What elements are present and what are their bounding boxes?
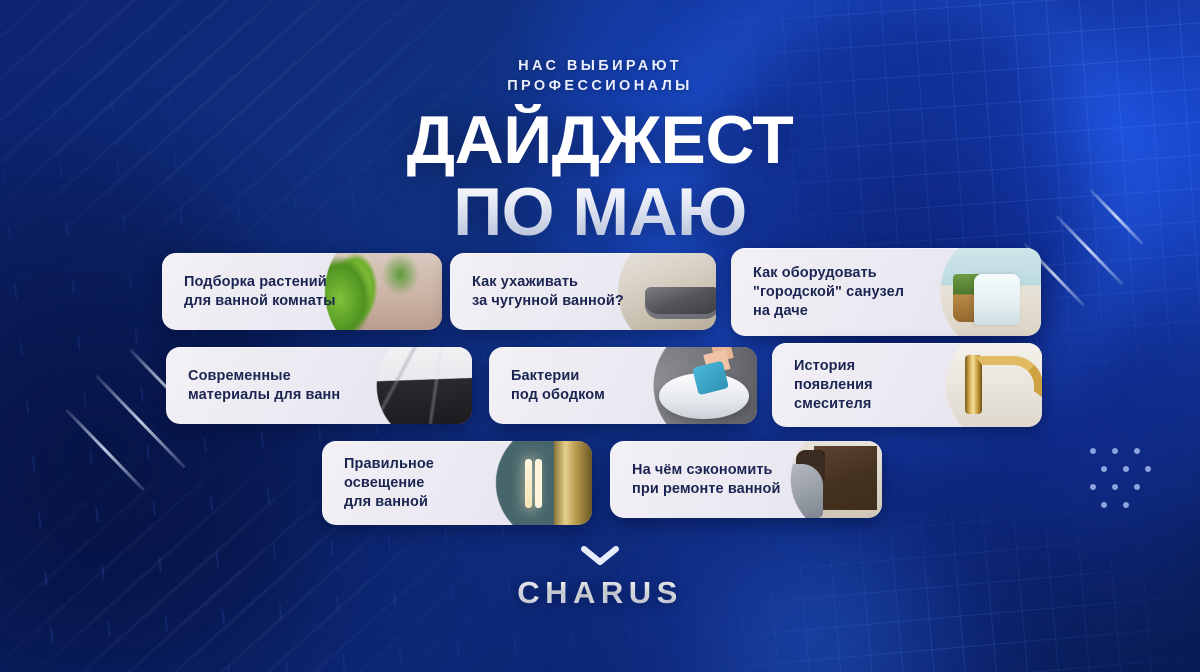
digest-card-save-on-repair[interactable]: На чём сэкономить при ремонте ванной <box>610 441 882 518</box>
card-title-line: Бактерии <box>511 367 605 386</box>
card-title-line: под ободком <box>511 386 605 405</box>
bathroom-lighting-photo <box>464 441 592 525</box>
card-title: История появления смесителя <box>772 357 873 414</box>
card-title-line: при ремонте ванной <box>632 480 781 499</box>
card-title-line: Как оборудовать <box>753 264 904 283</box>
card-title: Бактерии под ободком <box>489 367 605 405</box>
brand-logo: CHARUS <box>0 575 1200 611</box>
toilet-room-photo <box>907 248 1041 336</box>
gold-faucet-photo <box>914 343 1042 427</box>
digest-card-list: Подборка растений для ванной комнаты Как… <box>0 0 1200 672</box>
digest-card-plants[interactable]: Подборка растений для ванной комнаты <box>162 253 442 330</box>
card-title-line: Как ухаживать <box>472 273 624 292</box>
poster-content: НАС ВЫБИРАЮТ ПРОФЕССИОНАЛЫ ДАЙДЖЕСТ ПО М… <box>0 0 1200 672</box>
card-title-line: "городской" санузел <box>753 283 904 302</box>
card-title-line: для ванной <box>344 493 434 512</box>
card-title-line: появления <box>794 376 873 395</box>
card-title-line: Современные <box>188 367 340 386</box>
card-title: Правильное освещение для ванной <box>322 455 434 512</box>
digest-card-bacteria[interactable]: Бактерии под ободком <box>489 347 757 424</box>
card-title-line: Подборка растений <box>184 273 336 292</box>
scroll-down-indicator <box>0 546 1200 571</box>
digest-card-lighting[interactable]: Правильное освещение для ванной <box>322 441 592 525</box>
toilet-cleaning-photo <box>617 347 757 424</box>
card-title-line: На чём сэкономить <box>632 461 781 480</box>
card-title-line: История <box>794 357 873 376</box>
card-title-line: для ванной комнаты <box>184 292 336 311</box>
card-title-line: освещение <box>344 474 434 493</box>
digest-card-country-toilet[interactable]: Как оборудовать "городской" санузел на д… <box>731 248 1041 336</box>
card-title-line: материалы для ванн <box>188 386 340 405</box>
digest-card-cast-iron[interactable]: Как ухаживать за чугунной ванной? <box>450 253 716 330</box>
card-title: Как ухаживать за чугунной ванной? <box>450 273 624 311</box>
card-title-line: на даче <box>753 302 904 321</box>
digest-card-modern-materials[interactable]: Современные материалы для ванн <box>166 347 472 424</box>
card-title-line: Правильное <box>344 455 434 474</box>
card-title: Как оборудовать "городской" санузел на д… <box>731 264 904 321</box>
digest-poster: НАС ВЫБИРАЮТ ПРОФЕССИОНАЛЫ ДАЙДЖЕСТ ПО М… <box>0 0 1200 672</box>
chevron-down-icon <box>581 546 619 566</box>
card-title-line: смесителя <box>794 395 873 414</box>
card-title-line: за чугунной ванной? <box>472 292 624 311</box>
card-title: Подборка растений для ванной комнаты <box>162 273 336 311</box>
card-title: Современные материалы для ванн <box>166 367 340 405</box>
marble-surface-photo <box>344 347 472 424</box>
digest-card-faucet-history[interactable]: История появления смесителя <box>772 343 1042 427</box>
card-title: На чём сэкономить при ремонте ванной <box>610 461 781 499</box>
